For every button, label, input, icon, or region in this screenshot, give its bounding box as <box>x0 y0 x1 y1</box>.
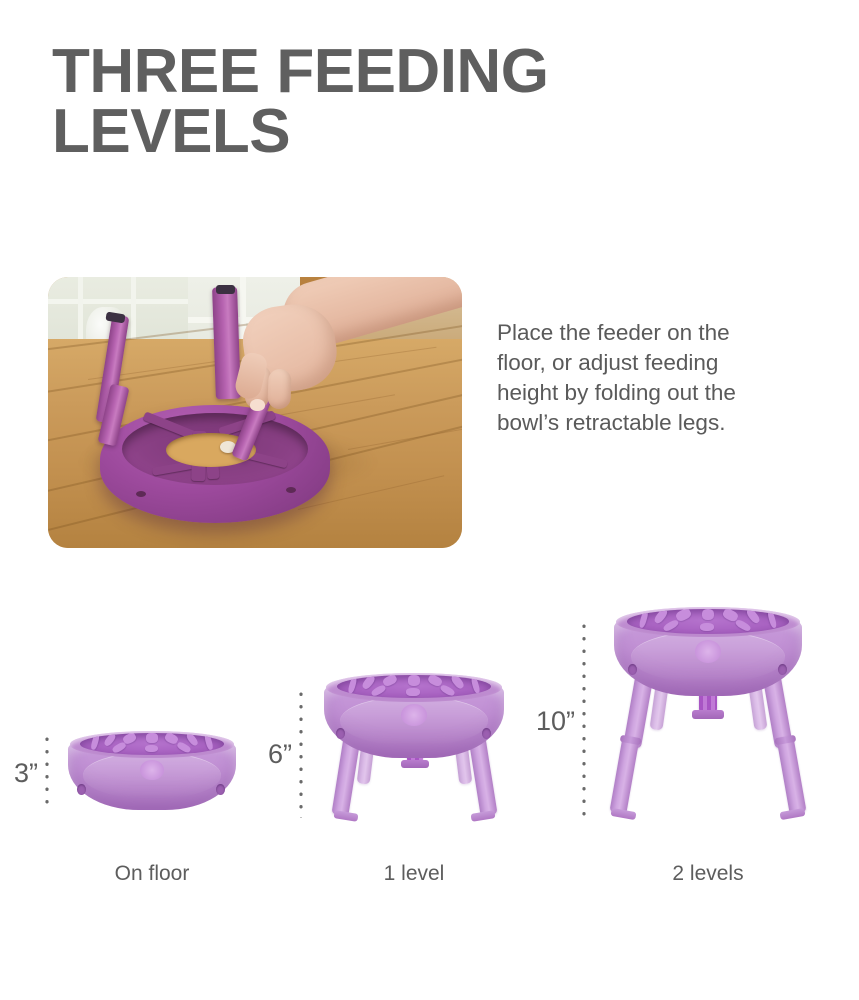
leg-socket-screw <box>628 664 637 675</box>
page-title: THREE FEEDING LEVELS <box>52 42 752 161</box>
finger <box>267 369 291 410</box>
bowl-screw <box>136 491 146 497</box>
description-text: Place the feeder on the floor, or adjust… <box>497 318 777 439</box>
leg-socket-screw <box>216 784 225 795</box>
photo-bowl-underside <box>100 405 330 523</box>
headline-line-2: LEVELS <box>52 102 752 162</box>
leg-foot <box>610 808 636 820</box>
leg-socket-screw <box>336 728 345 739</box>
photo-scene <box>48 277 462 548</box>
leg-front-left-lower <box>609 735 639 815</box>
product-photo <box>48 277 462 548</box>
leg-socket-screw <box>77 784 86 795</box>
leg-foot <box>334 810 359 822</box>
leg-foot <box>471 810 496 822</box>
maze-center-hub <box>695 640 721 663</box>
brace-base <box>401 760 429 768</box>
dimension-label-6in: 6” <box>268 739 292 770</box>
human-hand <box>238 277 462 419</box>
infographic-page: THREE FEEDING LEVELS <box>0 0 859 1000</box>
bowl-one-level <box>324 674 504 820</box>
dimension-6-inch: 6” <box>268 690 303 818</box>
bowl-body-group <box>324 674 504 758</box>
slow-feeder-maze <box>80 733 224 755</box>
figure-caption-one-level: 1 level <box>324 862 504 886</box>
leg-foot <box>779 808 805 820</box>
leg-socket-screw <box>778 664 787 675</box>
dimension-dotted-line <box>45 733 49 811</box>
leg-end-cap <box>216 285 235 294</box>
feeding-levels-figures: 3” On floor 6” <box>0 580 859 920</box>
dimension-3-inch: 3” <box>14 735 49 811</box>
dimension-dotted-line <box>582 620 586 820</box>
leg-front-right-lower <box>776 735 806 815</box>
figure-caption-two-levels: 2 levels <box>614 862 802 886</box>
bowl-screw <box>286 487 296 493</box>
bowl-two-levels <box>614 608 802 820</box>
fingernail <box>250 399 265 411</box>
figure-caption-on-floor: On floor <box>68 862 236 886</box>
dimension-label-3in: 3” <box>14 758 38 789</box>
slow-feeder-maze <box>627 609 789 634</box>
brace-base <box>692 710 724 719</box>
dimension-label-10in: 10” <box>536 706 575 737</box>
bowl-body-group <box>614 608 802 696</box>
maze-center-hub <box>140 760 164 780</box>
dimension-dotted-line <box>299 688 303 818</box>
headline-line-1: THREE FEEDING <box>52 37 548 106</box>
bowl-on-floor <box>68 732 236 810</box>
maze-center-hub <box>401 704 426 726</box>
dimension-10-inch: 10” <box>536 622 586 820</box>
leg-socket-screw <box>482 728 491 739</box>
